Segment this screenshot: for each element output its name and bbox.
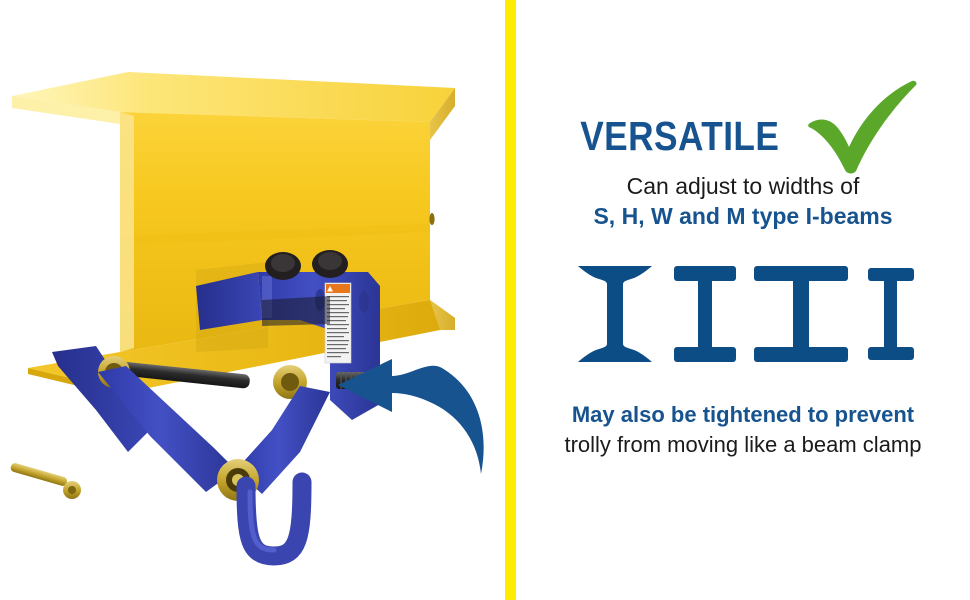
w-beam-bottom-flange — [754, 347, 848, 362]
left-adjuster-nut-hole — [68, 486, 76, 494]
photo-stage — [0, 0, 505, 600]
h-beam-web — [698, 279, 712, 349]
trolley-body-left — [196, 272, 262, 330]
trolley-recess-right — [359, 291, 369, 313]
headline-row: VERSATILE — [516, 105, 970, 167]
product-photo-panel — [0, 0, 505, 600]
footer-line-1: May also be tightened to prevent — [516, 400, 970, 430]
s-type-beam-icon — [578, 266, 652, 362]
subheading-block: Can adjust to widths of S, H, W and M ty… — [516, 172, 970, 231]
subheading-line-1: Can adjust to widths of — [516, 172, 970, 201]
blue-beam-trolley-clamp — [0, 0, 505, 600]
w-beam-web — [793, 279, 809, 349]
s-beam-shape — [578, 266, 652, 362]
lifting-eye — [246, 482, 302, 556]
m-type-beam-icon — [868, 268, 914, 360]
green-check-icon — [806, 79, 922, 175]
h-beam-top-flange — [674, 266, 736, 281]
i-beam-profile-icons — [516, 262, 970, 374]
infographic-canvas: VERSATILE Can adjust to widths of S, H, … — [0, 0, 970, 600]
m-beam-web — [884, 279, 897, 348]
right-pivot-bolt — [281, 373, 299, 391]
h-type-beam-icon — [674, 266, 736, 362]
page-title: VERSATILE — [580, 116, 779, 157]
curved-left-arrow-icon — [330, 352, 495, 482]
w-beam-top-flange — [754, 266, 848, 281]
left-adjuster-rod — [10, 462, 68, 487]
footer-text-block: May also be tightened to prevent trolly … — [516, 400, 970, 460]
beam-icons-svg — [516, 262, 970, 374]
m-beam-bottom-flange — [868, 347, 914, 360]
arrow-shape — [338, 359, 484, 474]
check-shape — [808, 81, 916, 174]
w-type-beam-icon — [754, 266, 848, 362]
trolley-beam-slot — [262, 296, 330, 326]
footer-line-2: trolly from moving like a beam clamp — [516, 430, 970, 460]
info-panel: VERSATILE Can adjust to widths of S, H, … — [516, 0, 970, 600]
yellow-vertical-divider — [505, 0, 516, 600]
h-beam-bottom-flange — [674, 347, 736, 362]
subheading-line-2: S, H, W and M type I-beams — [516, 201, 970, 231]
